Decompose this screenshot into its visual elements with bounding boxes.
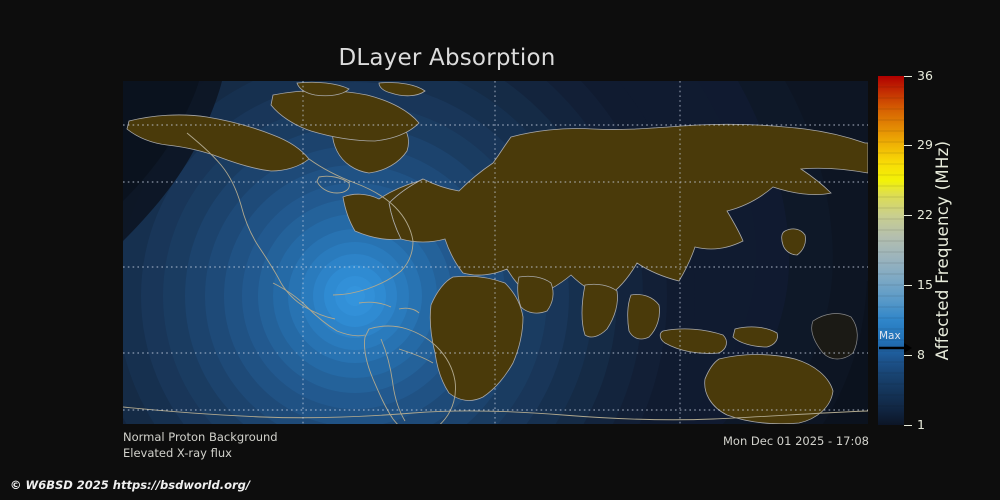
colorbar-tick: 15: [904, 278, 933, 292]
world-map-panel[interactable]: [123, 81, 868, 424]
tick-dash: [904, 76, 912, 77]
colorbar-tick: 29: [904, 138, 933, 152]
tick-dash: [904, 425, 912, 426]
colorbar-tick: 36: [904, 69, 933, 83]
colorbar-gradient: [878, 76, 904, 425]
timestamp: Mon Dec 01 2025 - 17:08: [723, 434, 869, 448]
colorbar: [878, 76, 904, 425]
colorbar-tick: 8: [904, 348, 925, 362]
colorbar-tick: 1: [904, 418, 925, 432]
status-proton-background: Normal Proton Background: [123, 430, 278, 444]
tick-label: 1: [917, 417, 925, 432]
status-xray-flux: Elevated X-ray flux: [123, 446, 232, 460]
tick-label: 8: [917, 347, 925, 362]
tick-dash: [904, 145, 912, 146]
tick-dash: [904, 285, 912, 286]
dlayer-absorption-figure: DLayer Absorption: [0, 0, 1000, 500]
colorbar-axis-label: Affected Frequency (MHz): [930, 76, 956, 425]
colorbar-tick: 22: [904, 208, 933, 222]
tick-dash: [904, 355, 912, 356]
tick-dash: [904, 215, 912, 216]
copyright-notice: © W6BSD 2025 https://bsdworld.org/: [10, 478, 250, 492]
page-title: DLayer Absorption: [0, 45, 1000, 71]
world-map-svg: [123, 81, 868, 424]
